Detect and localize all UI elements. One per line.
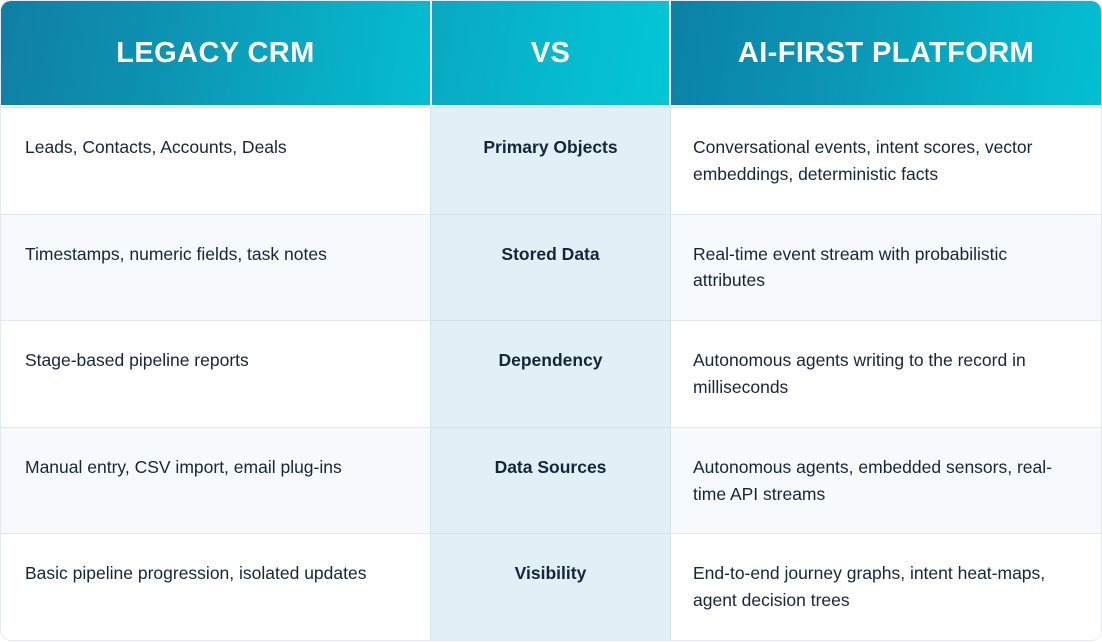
table-cell-legacy: Stage-based pipeline reports — [1, 320, 430, 427]
table-cell-ai-first: Autonomous agents, embedded sensors, rea… — [671, 427, 1101, 534]
column-header-legacy-crm: LEGACY CRM — [1, 1, 430, 105]
table-cell-ai-first: Conversational events, intent scores, ve… — [671, 107, 1101, 214]
table-cell-label: Data Sources — [430, 427, 671, 534]
table-cell-legacy: Basic pipeline progression, isolated upd… — [1, 533, 430, 640]
column-header-vs: VS — [430, 1, 671, 105]
column-header-ai-first-platform: AI-FIRST PLATFORM — [671, 1, 1101, 105]
table-cell-ai-first: Real-time event stream with probabilisti… — [671, 214, 1101, 321]
table-grid: LEGACY CRM VS AI-FIRST PLATFORM Leads, C… — [1, 1, 1101, 640]
table-cell-legacy: Leads, Contacts, Accounts, Deals — [1, 107, 430, 214]
table-cell-ai-first: Autonomous agents writing to the record … — [671, 320, 1101, 427]
comparison-table: LEGACY CRM VS AI-FIRST PLATFORM Leads, C… — [1, 1, 1101, 640]
table-cell-label: Dependency — [430, 320, 671, 427]
table-cell-label: Stored Data — [430, 214, 671, 321]
table-cell-ai-first: End-to-end journey graphs, intent heat-m… — [671, 533, 1101, 640]
table-cell-legacy: Manual entry, CSV import, email plug-ins — [1, 427, 430, 534]
table-cell-legacy: Timestamps, numeric fields, task notes — [1, 214, 430, 321]
table-cell-label: Visibility — [430, 533, 671, 640]
table-cell-label: Primary Objects — [430, 107, 671, 214]
